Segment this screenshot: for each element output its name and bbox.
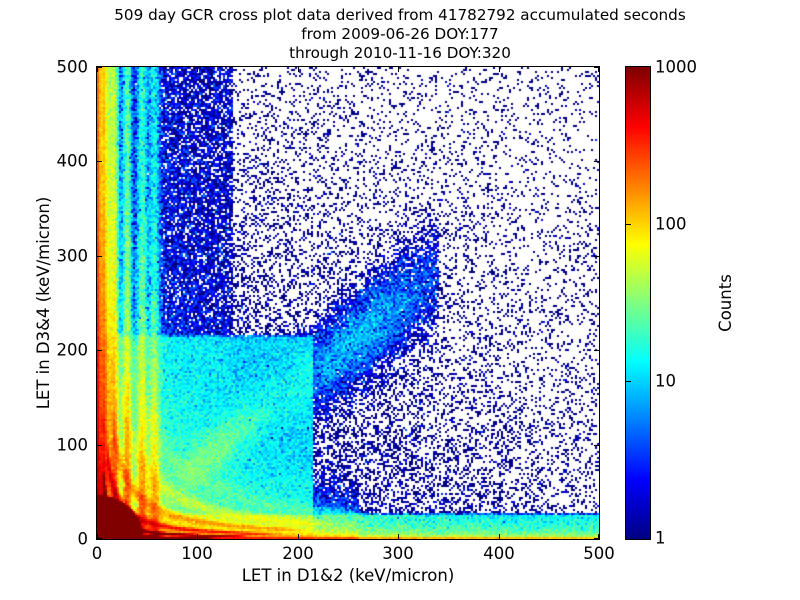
colorbar-tick xyxy=(626,381,631,382)
x-tick-bottom xyxy=(499,534,500,539)
x-tick-top xyxy=(298,67,299,72)
colorbar xyxy=(625,66,651,540)
x-tick-top xyxy=(197,67,198,72)
plot-area xyxy=(96,66,600,540)
x-tick-top xyxy=(499,67,500,72)
x-tick-label: 0 xyxy=(92,544,103,563)
colorbar-tick xyxy=(626,224,631,225)
x-tick-top xyxy=(398,67,399,72)
colorbar-tick-label: 10 xyxy=(655,372,676,391)
y-tick-left xyxy=(97,256,102,257)
x-tick-label: 300 xyxy=(382,544,414,563)
y-tick-right xyxy=(594,350,599,351)
colorbar-tick-label: 1 xyxy=(655,529,666,548)
y-tick-left xyxy=(97,161,102,162)
colorbar-label: Counts xyxy=(716,66,735,540)
colorbar-gradient xyxy=(626,67,650,539)
y-tick-left xyxy=(97,445,102,446)
y-tick-right xyxy=(594,538,599,539)
x-tick-bottom xyxy=(197,534,198,539)
chart-title: 509 day GCR cross plot data derived from… xyxy=(0,6,800,63)
title-line-2: from 2009-06-26 DOY:177 xyxy=(0,25,800,44)
x-tick-label: 500 xyxy=(583,544,615,563)
x-tick-bottom xyxy=(398,534,399,539)
y-tick-right xyxy=(594,161,599,162)
y-tick-left xyxy=(97,350,102,351)
y-tick-right xyxy=(594,67,599,68)
heatmap-scatter-canvas xyxy=(97,67,599,539)
x-tick-label: 200 xyxy=(282,544,314,563)
colorbar-tick-label: 100 xyxy=(655,215,687,234)
x-tick-bottom xyxy=(298,534,299,539)
y-tick-right xyxy=(594,256,599,257)
y-tick-right xyxy=(594,445,599,446)
y-tick-left xyxy=(97,538,102,539)
y-axis-label: LET in D3&4 (keV/micron) xyxy=(34,66,53,540)
colorbar-tick-label: 1000 xyxy=(655,58,697,77)
title-line-1: 509 day GCR cross plot data derived from… xyxy=(0,6,800,25)
x-axis-label: LET in D1&2 (keV/micron) xyxy=(96,566,600,585)
figure-canvas: 509 day GCR cross plot data derived from… xyxy=(0,0,800,600)
x-tick-label: 400 xyxy=(483,544,515,563)
x-tick-label: 100 xyxy=(181,544,213,563)
y-tick-left xyxy=(97,67,102,68)
